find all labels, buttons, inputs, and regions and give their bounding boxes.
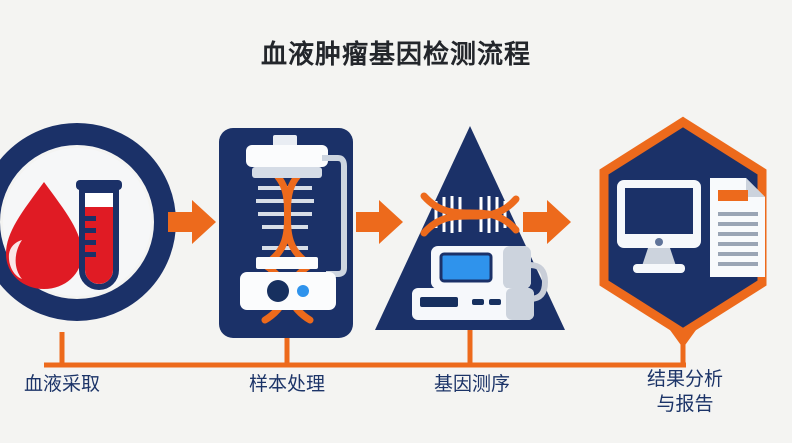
step-label-result-analysis-line2: 与报告: [620, 392, 750, 417]
step-blood-collection[interactable]: [0, 134, 165, 310]
step-label-sample-processing: 样本处理: [225, 372, 349, 397]
step-label-result-analysis: 结果分析 与报告: [620, 367, 750, 417]
report-document-icon: [710, 178, 765, 277]
test-tube-icon: [76, 180, 122, 287]
arrow-2: [356, 200, 403, 244]
arrow-3: [523, 200, 571, 244]
flow-connector-bus: [44, 330, 696, 365]
sequencer-machine-icon: [412, 246, 545, 320]
step-result-analysis[interactable]: [604, 122, 765, 333]
step-sample-processing[interactable]: [219, 128, 353, 338]
diagram-canvas: 血液肿瘤基因检测流程: [0, 0, 792, 443]
step-label-gene-sequencing: 基因测序: [410, 372, 534, 397]
arrow-1: [168, 200, 216, 244]
step-label-result-analysis-line1: 结果分析: [620, 367, 750, 392]
step-label-blood-collection: 血液采取: [0, 372, 124, 397]
